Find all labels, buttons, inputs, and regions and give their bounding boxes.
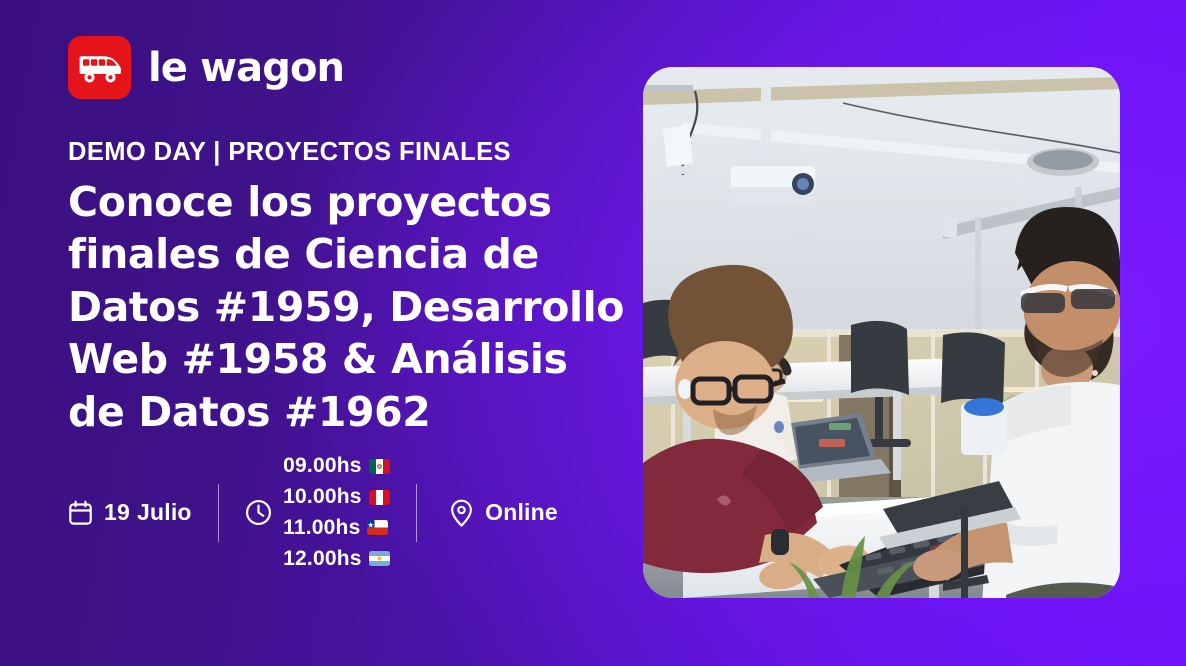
location-pin-icon bbox=[449, 499, 474, 527]
event-poster: le wagon DEMO DAY | PROYECTOS FINALES Co… bbox=[0, 0, 1186, 666]
page-title: Conoce los proyectos finales de Ciencia … bbox=[68, 176, 628, 438]
list-item: 09.00hs bbox=[283, 452, 389, 480]
event-meta-row: 19Julio 09.00hs bbox=[68, 450, 558, 575]
event-photo bbox=[643, 67, 1120, 598]
clock-icon bbox=[245, 499, 272, 526]
event-time: 09.00hs 10.00hs bbox=[245, 452, 389, 573]
list-item: 12.00hs bbox=[283, 545, 389, 573]
time-value: 10.00hs bbox=[283, 483, 361, 511]
mexico-flag bbox=[369, 459, 390, 474]
peru-flag bbox=[369, 490, 390, 505]
brand-logo[interactable]: le wagon bbox=[68, 36, 344, 99]
event-date-month: Julio bbox=[137, 499, 192, 525]
poster-left-column: le wagon DEMO DAY | PROYECTOS FINALES Co… bbox=[68, 0, 628, 666]
meta-divider-2 bbox=[416, 484, 418, 542]
calendar-icon bbox=[68, 500, 93, 526]
list-item: 11.00hs bbox=[283, 514, 389, 542]
list-item: 10.00hs bbox=[283, 483, 389, 511]
brand-name: le wagon bbox=[148, 48, 344, 88]
event-date-day: 19 bbox=[104, 499, 130, 525]
event-location: Online bbox=[449, 499, 558, 527]
meta-divider-1 bbox=[218, 484, 220, 542]
wagon-bus-icon bbox=[68, 36, 131, 99]
event-location-label: Online bbox=[485, 499, 558, 526]
argentina-flag bbox=[369, 551, 390, 566]
event-time-list: 09.00hs 10.00hs bbox=[283, 452, 389, 573]
time-value: 11.00hs bbox=[283, 514, 360, 542]
event-date: 19Julio bbox=[68, 499, 192, 526]
event-kicker: DEMO DAY | PROYECTOS FINALES bbox=[68, 138, 511, 166]
time-value: 09.00hs bbox=[283, 452, 361, 480]
event-date-text: 19Julio bbox=[104, 499, 192, 526]
chile-flag bbox=[367, 520, 388, 535]
time-value: 12.00hs bbox=[283, 545, 361, 573]
